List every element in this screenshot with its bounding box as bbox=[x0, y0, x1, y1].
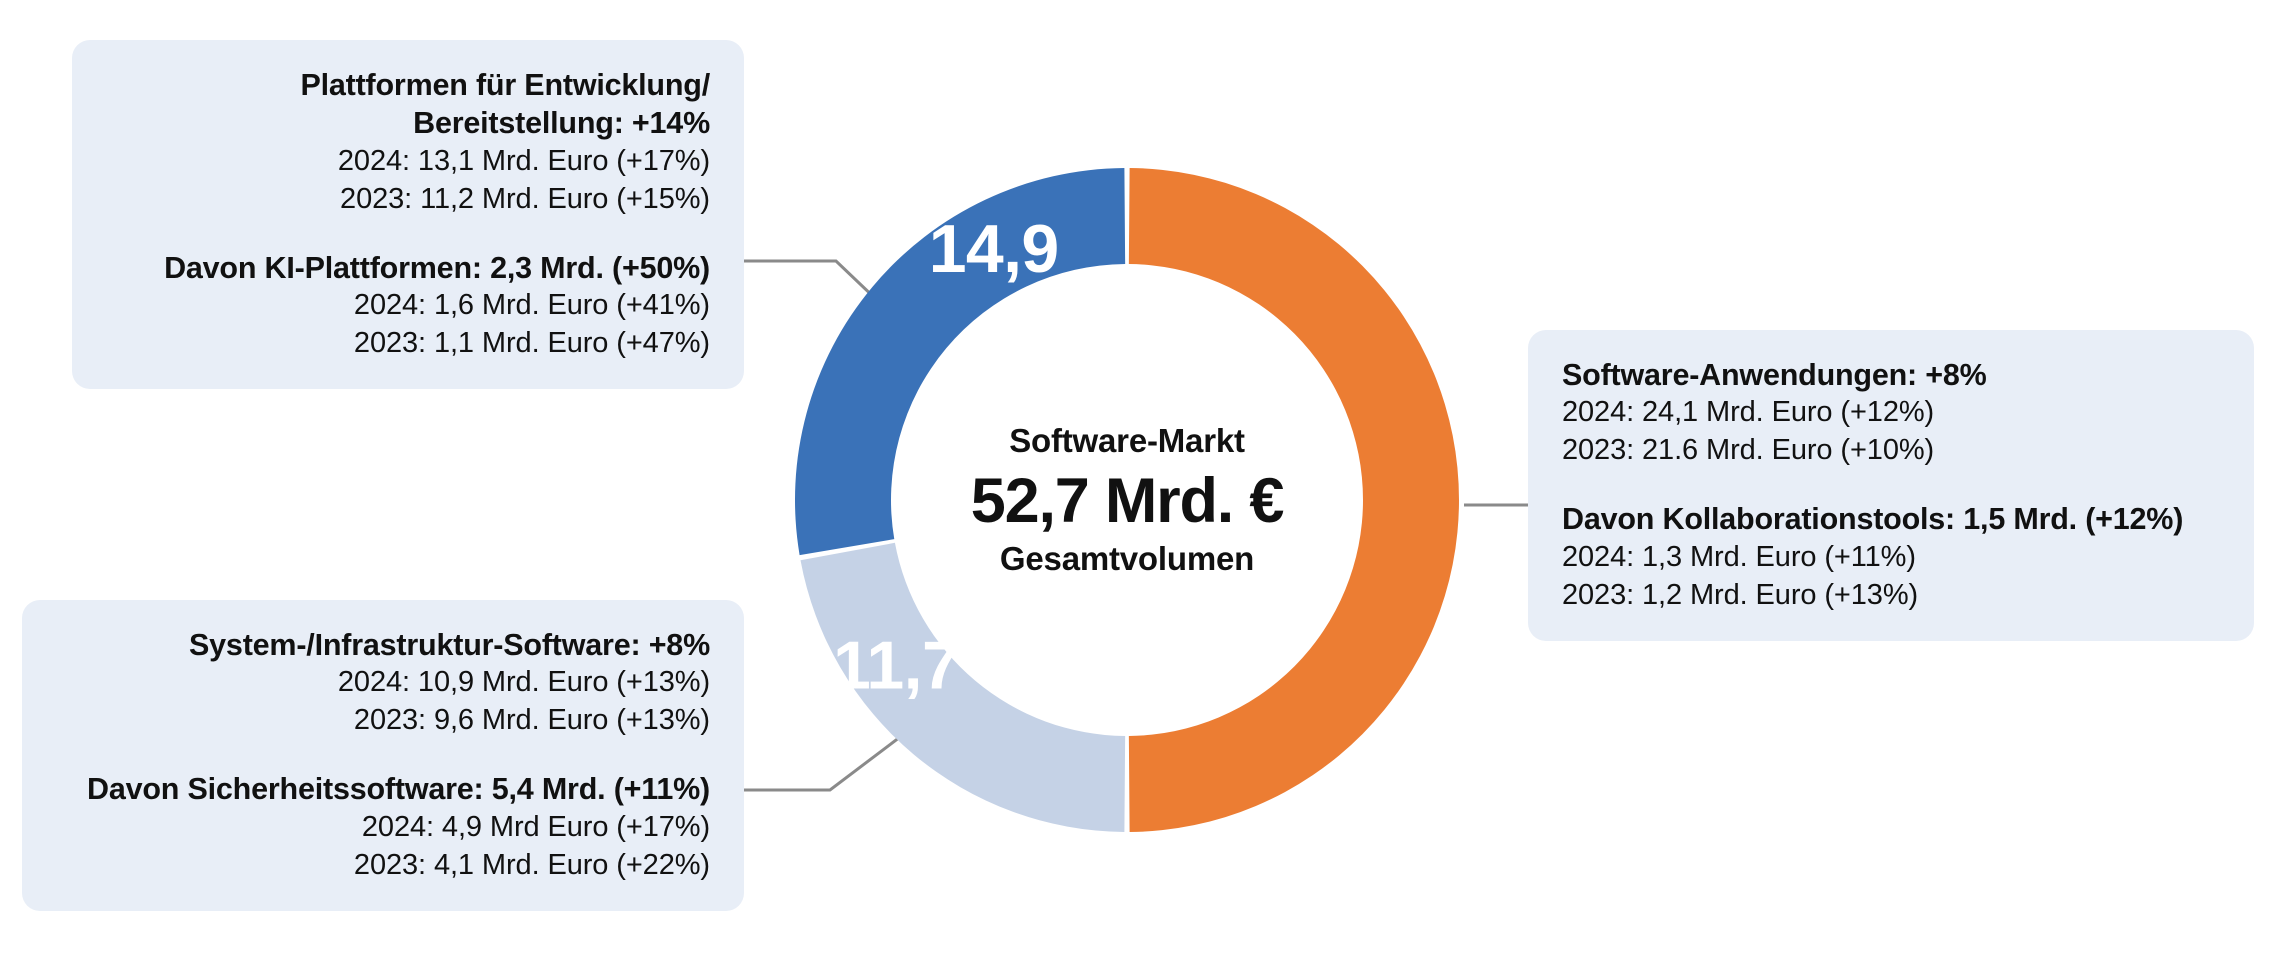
platforms-line-2024: 2024: 13,1 Mrd. Euro (+17%) bbox=[106, 143, 710, 181]
system-line-2023: 2023: 9,6 Mrd. Euro (+13%) bbox=[56, 702, 710, 740]
block-platforms-ai: Davon KI-Plattformen: 2,3 Mrd. (+50%) 20… bbox=[106, 249, 710, 363]
donut-slice-label-3: 14,9 bbox=[929, 211, 1059, 287]
applications-line-2024: 2024: 24,1 Mrd. Euro (+12%) bbox=[1562, 394, 2220, 432]
block-platforms-main: Plattformen für Entwicklung/ Bereitstell… bbox=[106, 66, 710, 219]
info-box-platforms: Plattformen für Entwicklung/ Bereitstell… bbox=[72, 40, 744, 389]
info-box-system-infrastructure: System-/Infrastruktur-Software: +8% 2024… bbox=[22, 600, 744, 911]
collaboration-line-2024: 2024: 1,3 Mrd. Euro (+11%) bbox=[1562, 539, 2220, 577]
block-security-software: Davon Sicherheitssoftware: 5,4 Mrd. (+11… bbox=[56, 770, 710, 884]
donut-slice-label-2: 11,7 bbox=[833, 627, 959, 703]
security-title: Davon Sicherheitssoftware: 5,4 Mrd. (+11… bbox=[56, 770, 710, 808]
donut-segments bbox=[795, 168, 1459, 832]
ai-platforms-line-2023: 2023: 1,1 Mrd. Euro (+47%) bbox=[106, 325, 710, 363]
security-line-2023: 2023: 4,1 Mrd. Euro (+22%) bbox=[56, 847, 710, 885]
ai-platforms-title: Davon KI-Plattformen: 2,3 Mrd. (+50%) bbox=[106, 249, 710, 287]
collaboration-title: Davon Kollaborationstools: 1,5 Mrd. (+12… bbox=[1562, 500, 2220, 538]
info-box-applications: Software-Anwendungen: +8% 2024: 24,1 Mrd… bbox=[1528, 330, 2254, 641]
donut-svg: 11,714,9 bbox=[795, 168, 1459, 832]
donut-chart: 11,714,9 Software-Markt 52,7 Mrd. € Gesa… bbox=[795, 168, 1459, 832]
security-line-2024: 2024: 4,9 Mrd Euro (+17%) bbox=[56, 809, 710, 847]
system-title: System-/Infrastruktur-Software: +8% bbox=[56, 626, 710, 664]
collaboration-line-2023: 2023: 1,2 Mrd. Euro (+13%) bbox=[1562, 577, 2220, 615]
block-collaboration-tools: Davon Kollaborationstools: 1,5 Mrd. (+12… bbox=[1562, 500, 2220, 614]
ai-platforms-line-2024: 2024: 1,6 Mrd. Euro (+41%) bbox=[106, 287, 710, 325]
applications-title: Software-Anwendungen: +8% bbox=[1562, 356, 2220, 394]
system-line-2024: 2024: 10,9 Mrd. Euro (+13%) bbox=[56, 664, 710, 702]
block-system-main: System-/Infrastruktur-Software: +8% 2024… bbox=[56, 626, 710, 740]
platforms-title: Plattformen für Entwicklung/ Bereitstell… bbox=[106, 66, 710, 143]
platforms-line-2023: 2023: 11,2 Mrd. Euro (+15%) bbox=[106, 181, 710, 219]
applications-line-2023: 2023: 21.6 Mrd. Euro (+10%) bbox=[1562, 432, 2220, 470]
block-applications-main: Software-Anwendungen: +8% 2024: 24,1 Mrd… bbox=[1562, 356, 2220, 470]
donut-slice-1[interactable] bbox=[1129, 168, 1459, 832]
